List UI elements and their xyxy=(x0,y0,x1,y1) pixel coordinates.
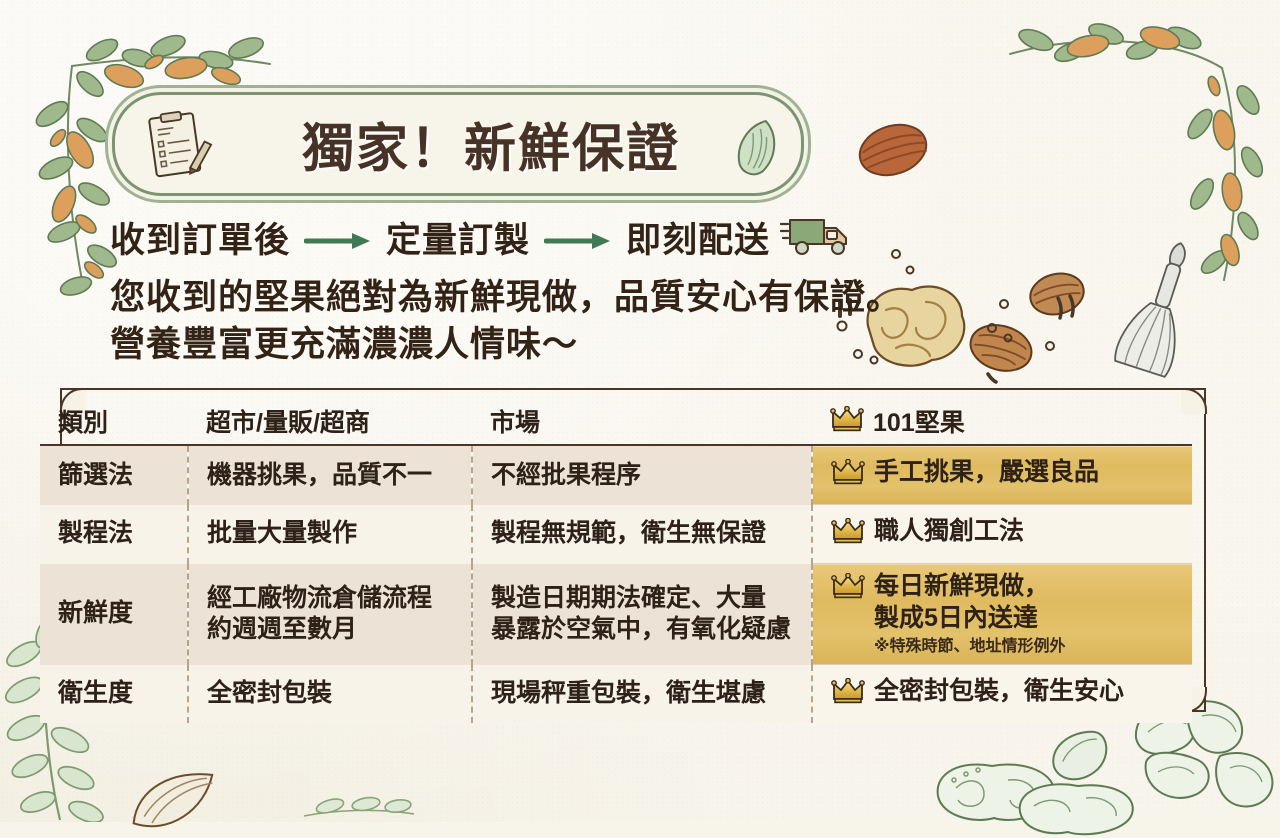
table-body: 篩選法機器挑果，品質不一不經批果程序 手工挑果，嚴選良品 製程法批量大量製作製程… xyxy=(40,445,1192,723)
table-row: 篩選法機器挑果，品質不一不經批果程序 手工挑果，嚴選良品 xyxy=(40,445,1192,505)
cell-brand: 手工挑果，嚴選良品 xyxy=(812,445,1192,505)
table-row: 新鮮度經工廠物流倉儲流程約週週至數月製造日期期法確定、大量暴露於空氣中，有氧化疑… xyxy=(40,564,1192,665)
crown-icon xyxy=(830,406,864,439)
cell-market: 不經批果程序 xyxy=(472,445,812,505)
cell-brand: 每日新鮮現做，製成5日內送達 ※特殊時節、地址情形例外 xyxy=(812,564,1192,665)
cell-market: 現場秤重包裝，衛生堪慮 xyxy=(472,665,812,724)
column-header-category: 類別 xyxy=(40,398,188,445)
cell-category: 衛生度 xyxy=(40,665,188,724)
cell-supermarket: 經工廠物流倉儲流程約週週至數月 xyxy=(188,564,472,665)
cell-category: 製程法 xyxy=(40,505,188,564)
cell-brand: 職人獨創工法 xyxy=(812,505,1192,564)
arrow-right-icon xyxy=(544,218,612,265)
cell-brand-text: 每日新鮮現做，製成5日內送達 ※特殊時節、地址情形例外 xyxy=(874,571,1066,657)
column-header-brand-label: 101堅果 xyxy=(873,403,965,439)
almond-icon xyxy=(731,117,785,179)
flow-step-3: 即刻配送 xyxy=(626,218,770,265)
column-header-supermarket: 超市/量販/超商 xyxy=(188,398,472,445)
cell-brand-text: 職人獨創工法 xyxy=(874,516,1024,548)
column-header-market: 市場 xyxy=(472,398,812,445)
table-row: 衛生度全密封包裝現場秤重包裝，衛生堪慮 全密封包裝，衛生安心 xyxy=(40,665,1192,724)
cell-supermarket: 批量大量製作 xyxy=(188,505,472,564)
flow-step-1: 收到訂單後 xyxy=(110,218,290,265)
cell-supermarket: 機器挑果，品質不一 xyxy=(188,445,472,505)
cell-market: 製造日期期法確定、大量暴露於空氣中，有氧化疑慮 xyxy=(472,564,812,665)
delivery-truck-icon xyxy=(780,212,858,271)
cell-category: 篩選法 xyxy=(40,445,188,505)
comparison-table: 類別 超市/量販/超商 市場 xyxy=(40,398,1192,723)
page-title: 獨家！新鮮保證 xyxy=(261,107,721,182)
arrow-right-icon xyxy=(304,218,372,265)
cell-market: 製程無規範，衛生無保證 xyxy=(472,505,812,564)
cell-brand-text: 手工挑果，嚴選良品 xyxy=(874,457,1099,489)
intro-line-3: 營養豐富更充滿濃濃人情味～ xyxy=(110,322,890,369)
cell-category: 新鮮度 xyxy=(40,564,188,665)
title-banner: 獨家！新鮮保證 xyxy=(112,92,804,196)
crown-icon xyxy=(831,459,865,494)
crown-icon xyxy=(831,518,865,553)
table-row: 製程法批量大量製作製程無規範，衛生無保證 職人獨創工法 xyxy=(40,505,1192,564)
cell-brand-text: 全密封包裝，衛生安心 xyxy=(874,676,1124,708)
crown-icon xyxy=(831,573,865,608)
table-header-row: 類別 超市/量販/超商 市場 xyxy=(40,398,1192,445)
cell-supermarket: 全密封包裝 xyxy=(188,665,472,724)
flow-step-2: 定量訂製 xyxy=(386,218,530,265)
intro-text-block: 收到訂單後 定量訂製 即刻配送 xyxy=(110,212,890,369)
cell-brand: 全密封包裝，衛生安心 xyxy=(812,665,1192,724)
column-header-brand: 101堅果 xyxy=(812,398,1192,445)
crown-icon xyxy=(831,678,865,713)
clipboard-checklist-icon xyxy=(143,111,217,181)
intro-line-2: 您收到的堅果絕對為新鮮現做，品質安心有保證。 xyxy=(110,275,890,322)
cell-brand-note: ※特殊時節、地址情形例外 xyxy=(874,637,1066,657)
process-flow: 收到訂單後 定量訂製 即刻配送 xyxy=(110,212,890,271)
